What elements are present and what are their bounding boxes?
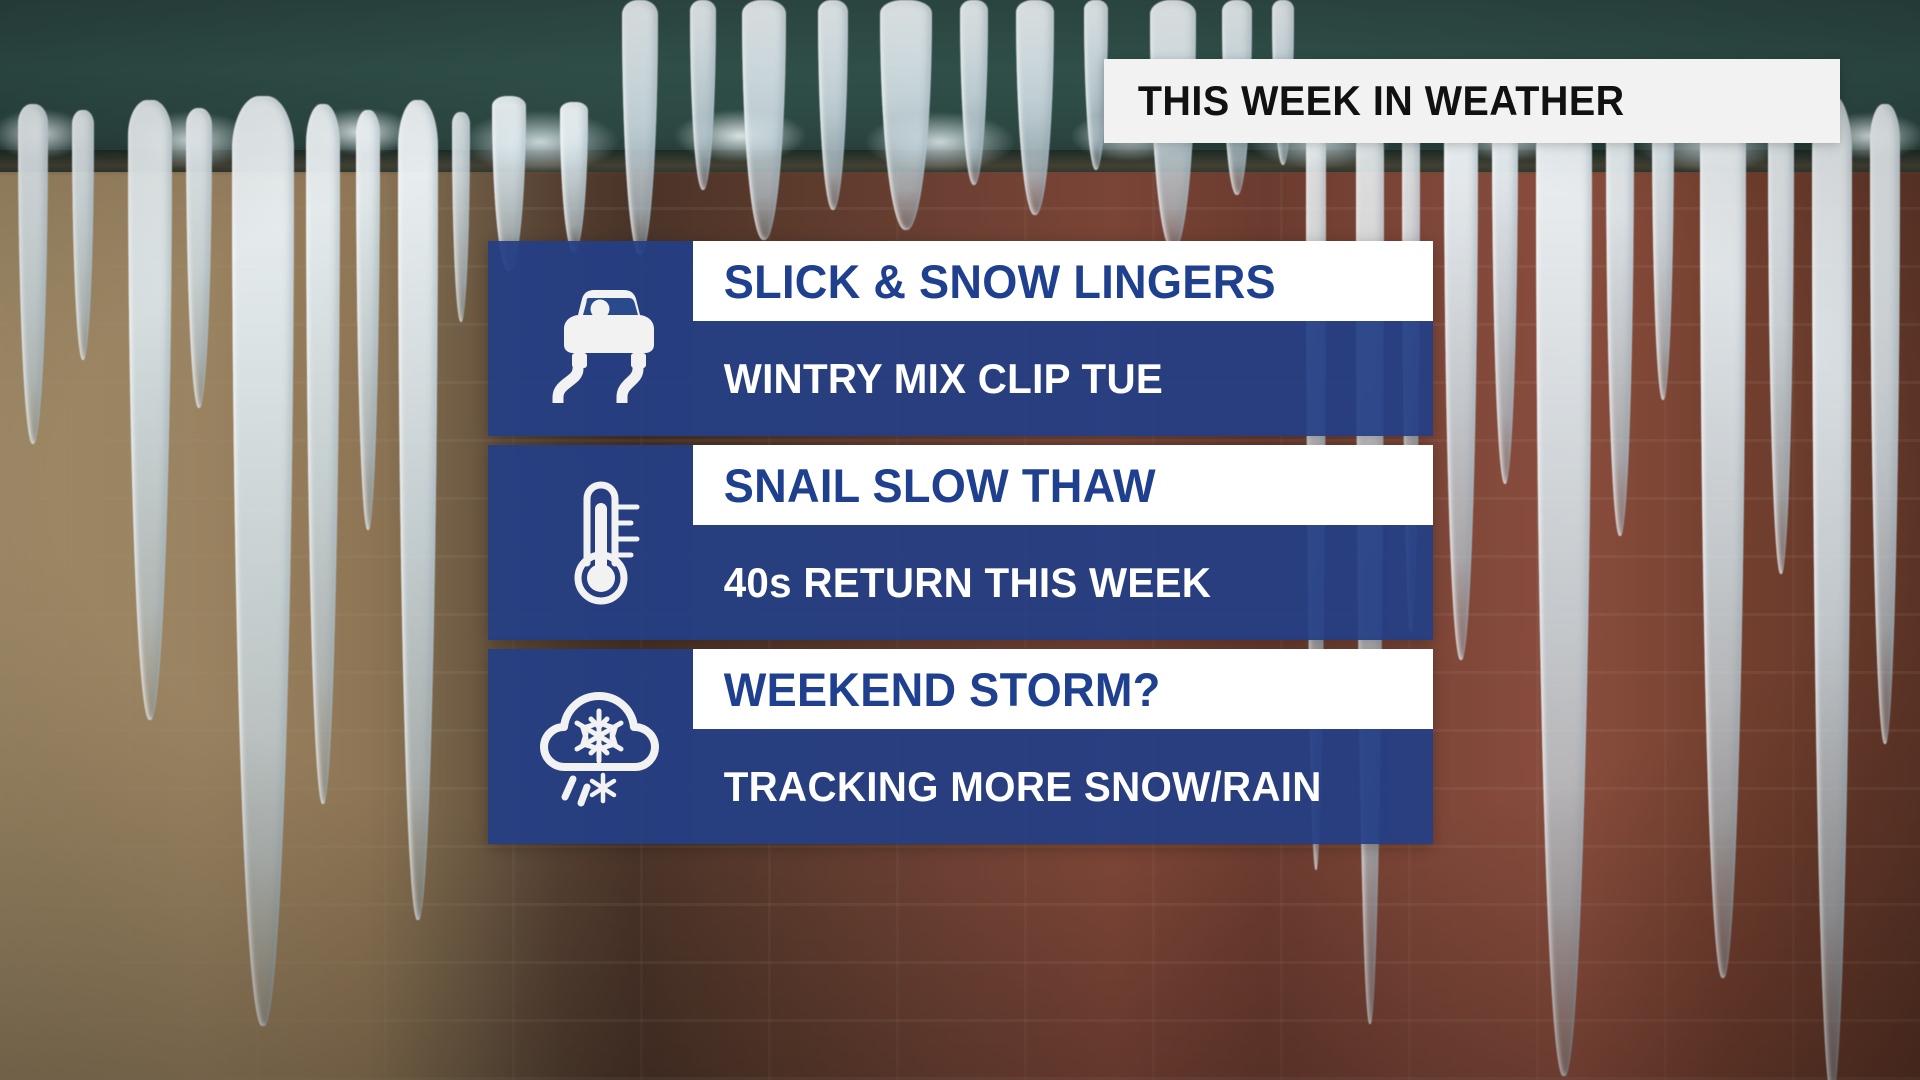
panel-title-bar: WEEKEND STORM? [693, 649, 1433, 729]
forecast-panel-slick-snow[interactable]: SLICK & SNOW LINGERS WINTRY MIX CLIP TUE [488, 241, 1433, 436]
forecast-panel-list: SLICK & SNOW LINGERS WINTRY MIX CLIP TUE [488, 241, 1433, 844]
panel-title: SLICK & SNOW LINGERS [693, 258, 1276, 305]
panel-title: WEEKEND STORM? [693, 666, 1161, 713]
panel-title-bar: SNAIL SLOW THAW [693, 445, 1433, 525]
slippery-road-car-icon [516, 241, 686, 436]
panel-subtitle: TRACKING MORE SNOW/RAIN [693, 766, 1322, 808]
forecast-panel-slow-thaw[interactable]: SNAIL SLOW THAW 40s RETURN THIS WEEK [488, 445, 1433, 640]
panel-subtitle-row: WINTRY MIX CLIP TUE [693, 321, 1433, 436]
header-bar: THIS WEEK IN WEATHER [1104, 59, 1840, 143]
panel-subtitle-row: TRACKING MORE SNOW/RAIN [693, 729, 1433, 844]
panel-subtitle: 40s RETURN THIS WEEK [693, 562, 1211, 604]
panel-title: SNAIL SLOW THAW [693, 462, 1156, 509]
panel-subtitle: WINTRY MIX CLIP TUE [693, 358, 1163, 400]
panel-subtitle-row: 40s RETURN THIS WEEK [693, 525, 1433, 640]
thermometer-icon [516, 445, 686, 640]
snow-rain-cloud-icon [516, 649, 686, 844]
forecast-panel-weekend-storm[interactable]: WEEKEND STORM? TRACKING MORE SNOW/RAIN [488, 649, 1433, 844]
panel-title-bar: SLICK & SNOW LINGERS [693, 241, 1433, 321]
page-title: THIS WEEK IN WEATHER [1104, 80, 1625, 122]
